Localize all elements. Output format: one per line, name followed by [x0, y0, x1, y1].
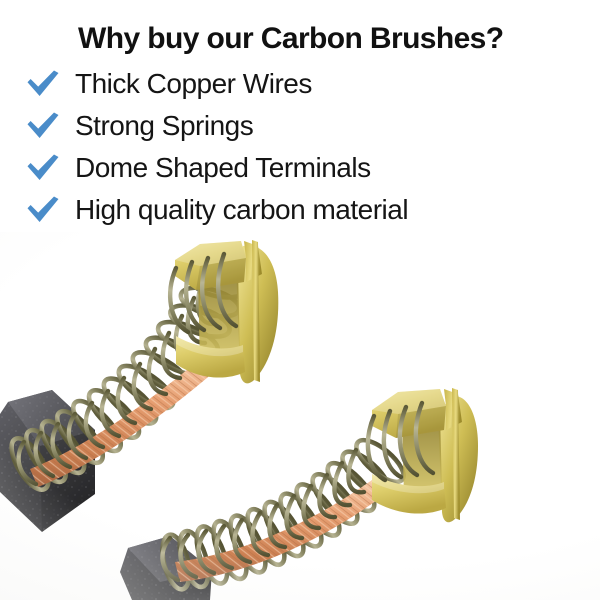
list-item: Strong Springs	[26, 105, 586, 147]
check-icon	[26, 69, 60, 99]
feature-label: High quality carbon material	[75, 196, 408, 224]
page-title: Why buy our Carbon Brushes?	[78, 22, 504, 56]
product-photo	[0, 232, 600, 600]
list-item: Dome Shaped Terminals	[26, 147, 586, 189]
check-icon	[26, 111, 60, 141]
list-item: High quality carbon material	[26, 189, 586, 231]
list-item: Thick Copper Wires	[26, 63, 586, 105]
check-icon	[26, 195, 60, 225]
feature-label: Dome Shaped Terminals	[75, 154, 371, 182]
feature-label: Strong Springs	[75, 112, 253, 140]
check-icon	[26, 153, 60, 183]
feature-list: Thick Copper Wires Strong Springs Dome S…	[26, 63, 586, 231]
feature-label: Thick Copper Wires	[75, 70, 312, 98]
product-graphic: Why buy our Carbon Brushes? Thick Copper…	[0, 0, 600, 600]
